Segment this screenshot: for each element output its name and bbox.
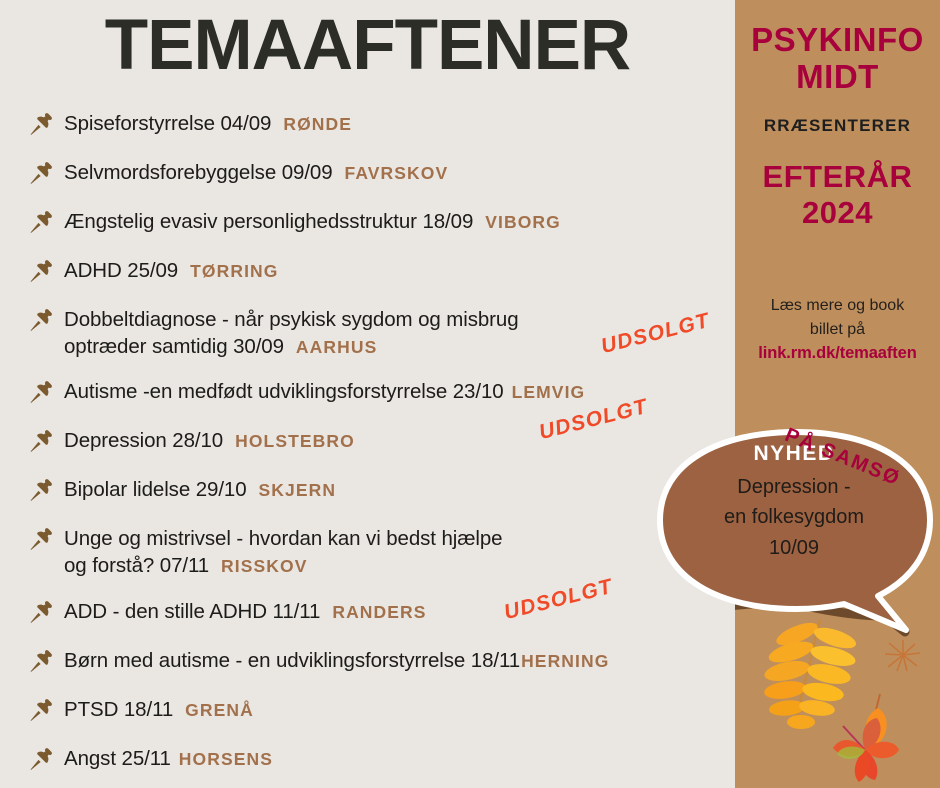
event-title: Selvmordsforebyggelse 09/09	[64, 161, 333, 184]
event-title: PTSD 18/11	[64, 698, 173, 721]
season-line-2: 2024	[735, 195, 940, 232]
pushpin-icon	[28, 428, 54, 454]
list-item[interactable]: ADD - den stille ADHD 11/11RANDERS	[0, 598, 740, 625]
event-city: TØRRING	[190, 261, 278, 281]
event-title: Angst 25/11	[64, 747, 171, 770]
brand-title: PSYKINFO MIDT	[735, 22, 940, 96]
list-item-body: Dobbeltdiagnose - når psykisk sygdom og …	[64, 306, 519, 360]
season-line-1: EFTERÅR	[735, 159, 940, 196]
list-item-body: Autisme -en medfødt udviklingsforstyrrel…	[64, 378, 585, 405]
list-item[interactable]: PTSD 18/11GRENÅ	[0, 696, 740, 723]
event-city: HOLSTEBRO	[235, 431, 355, 451]
list-item[interactable]: Unge og mistrivsel - hvordan kan vi beds…	[0, 525, 740, 579]
pushpin-icon	[28, 746, 54, 772]
list-item-body: Angst 25/11HORSENS	[64, 745, 273, 772]
readmore-line-1: Læs mere og book	[751, 294, 924, 318]
readmore-line-2: billet på	[751, 318, 924, 342]
list-item-body: Selvmordsforebyggelse 09/09FAVRSKOV	[64, 159, 448, 186]
list-item[interactable]: Spiseforstyrrelse 04/09RØNDE	[0, 110, 740, 137]
pushpin-icon	[28, 599, 54, 625]
list-item-body: Spiseforstyrrelse 04/09RØNDE	[64, 110, 352, 137]
event-city: LEMVIG	[512, 382, 586, 402]
event-title: Autisme -en medfødt udviklingsforstyrrel…	[64, 380, 504, 403]
booking-link[interactable]: link.rm.dk/temaaften	[735, 344, 940, 363]
pushpin-icon	[28, 379, 54, 405]
list-item[interactable]: Selvmordsforebyggelse 09/09FAVRSKOV	[0, 159, 740, 186]
event-title: Depression 28/10	[64, 429, 223, 452]
list-item-body: Unge og mistrivsel - hvordan kan vi beds…	[64, 525, 502, 579]
event-city: VIBORG	[485, 212, 561, 232]
event-title-line1: Dobbeltdiagnose - når psykisk sygdom og …	[64, 306, 519, 333]
event-city: SKJERN	[259, 480, 337, 500]
event-city: RISSKOV	[221, 556, 307, 576]
list-item-body: Ængstelig evasiv personlighedsstruktur 1…	[64, 208, 561, 235]
pushpin-icon	[28, 477, 54, 503]
event-title: ADD - den stille ADHD 11/11	[64, 600, 320, 623]
list-item-body: Børn med autisme - en udviklingsforstyrr…	[64, 647, 609, 674]
list-item-body: PTSD 18/11GRENÅ	[64, 696, 254, 723]
sidebar: PSYKINFO MIDT RRÆSENTERER EFTERÅR 2024 L…	[735, 0, 940, 788]
event-list: Spiseforstyrrelse 04/09RØNDE Selvmordsfo…	[0, 110, 740, 788]
event-title: Ængstelig evasiv personlighedsstruktur 1…	[64, 210, 473, 233]
list-item[interactable]: Depression 28/10HOLSTEBRO	[0, 427, 740, 454]
poster-canvas: TEMAAFTENER Spiseforstyrrelse 04/09RØNDE…	[0, 0, 940, 788]
event-title-line2: optræder samtidig 30/09	[64, 335, 284, 358]
event-title: Børn med autisme - en udviklingsforstyrr…	[64, 649, 520, 672]
event-city: HORSENS	[179, 749, 273, 769]
bubble-line-3: 10/09	[670, 533, 918, 563]
list-item-body: ADD - den stille ADHD 11/11RANDERS	[64, 598, 427, 625]
event-title-line1: Unge og mistrivsel - hvordan kan vi beds…	[64, 525, 502, 552]
event-title: ADHD 25/09	[64, 259, 178, 282]
list-item[interactable]: Bipolar lidelse 29/10SKJERN	[0, 476, 740, 503]
pushpin-icon	[28, 307, 54, 333]
event-city: HERNING	[521, 651, 609, 671]
pushpin-icon	[28, 526, 54, 552]
event-city: GRENÅ	[185, 700, 254, 720]
event-city: AARHUS	[296, 337, 377, 357]
presents-label: RRÆSENTERER	[735, 116, 940, 136]
readmore-text: Læs mere og book billet på	[735, 294, 940, 342]
event-title: Spiseforstyrrelse 04/09	[64, 112, 271, 135]
list-item-body: Bipolar lidelse 29/10SKJERN	[64, 476, 336, 503]
news-speech-bubble[interactable]: NYHED Depression - en folkesygdom 10/09	[648, 424, 940, 639]
brand-line-1: PSYKINFO	[735, 22, 940, 59]
season-title: EFTERÅR 2024	[735, 159, 940, 232]
pushpin-icon	[28, 160, 54, 186]
list-item[interactable]: Angst 25/11HORSENS	[0, 745, 740, 772]
list-item[interactable]: Børn med autisme - en udviklingsforstyrr…	[0, 647, 740, 674]
pushpin-icon	[28, 209, 54, 235]
event-title: Bipolar lidelse 29/10	[64, 478, 247, 501]
pushpin-icon	[28, 258, 54, 284]
event-city: RANDERS	[332, 602, 426, 622]
list-item[interactable]: Ængstelig evasiv personlighedsstruktur 1…	[0, 208, 740, 235]
pushpin-icon	[28, 111, 54, 137]
event-title-line2: og forstå? 07/11	[64, 554, 209, 577]
list-item-body: Depression 28/10HOLSTEBRO	[64, 427, 355, 454]
list-item-body: ADHD 25/09TØRRING	[64, 257, 278, 284]
event-city: RØNDE	[283, 114, 352, 134]
pushpin-icon	[28, 697, 54, 723]
bubble-line-2: en folkesygdom	[670, 502, 918, 532]
page-title: TEMAAFTENER	[0, 9, 735, 84]
event-city: FAVRSKOV	[345, 163, 449, 183]
pushpin-icon	[28, 648, 54, 674]
brand-line-2: MIDT	[735, 59, 940, 96]
list-item[interactable]: ADHD 25/09TØRRING	[0, 257, 740, 284]
